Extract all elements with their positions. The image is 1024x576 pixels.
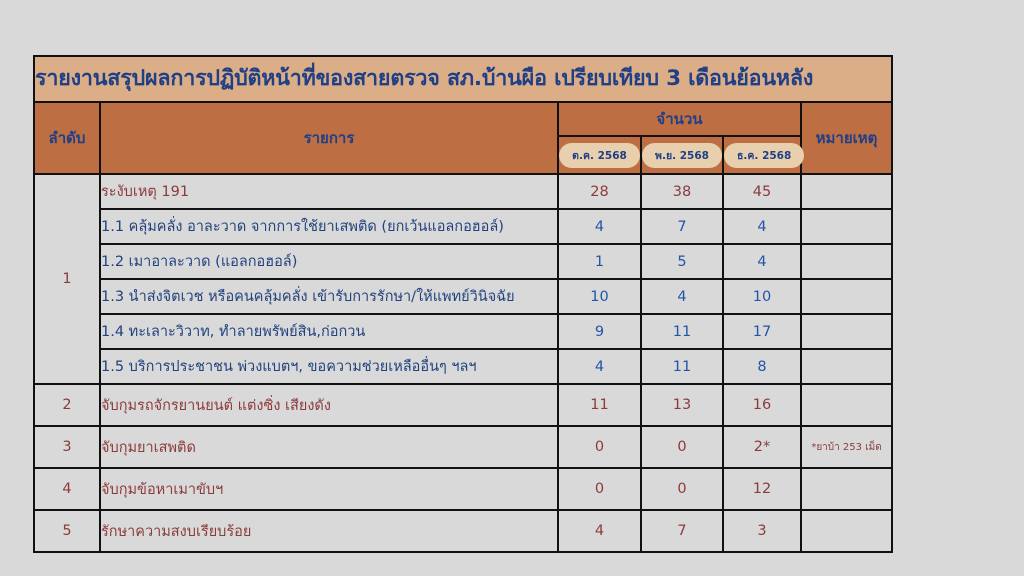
row-value-oct: 4 xyxy=(558,510,641,552)
row-value-dec: 17 xyxy=(723,314,801,349)
row-number: 3 xyxy=(34,426,100,468)
row-value-dec: 10 xyxy=(723,279,801,314)
table-row: 1.3 นำส่งจิตเวช หรือคนคลุ้มคลั่ง เข้ารับ… xyxy=(34,279,892,314)
row-note xyxy=(801,349,892,384)
header-note: หมายเหตุ xyxy=(801,102,892,174)
row-item: 1.2 เมาอาละวาด (แอลกอฮอล์) xyxy=(100,244,558,279)
row-value-nov: 0 xyxy=(641,426,723,468)
table-row: 5 รักษาความสงบเรียบร้อย 4 7 3 xyxy=(34,510,892,552)
row-number: 5 xyxy=(34,510,100,552)
row-note xyxy=(801,244,892,279)
header-month-2: พ.ย. 2568 xyxy=(641,136,723,174)
row-value-oct: 0 xyxy=(558,468,641,510)
header-no: ลำดับ xyxy=(34,102,100,174)
header-month-1: ต.ค. 2568 xyxy=(558,136,641,174)
row-item: ระงับเหตุ 191 xyxy=(100,174,558,209)
row-value-dec: 4 xyxy=(723,244,801,279)
row-value-oct: 4 xyxy=(558,349,641,384)
row-number: 1 xyxy=(34,174,100,384)
page-title: รายงานสรุปผลการปฏิบัติหน้าที่ของสายตรวจ … xyxy=(35,68,891,90)
row-value-oct: 4 xyxy=(558,209,641,244)
header-month-3: ธ.ค. 2568 xyxy=(723,136,801,174)
row-item: 1.4 ทะเลาะวิวาท, ทำลายพรัพย์สิน,ก่อกวน xyxy=(100,314,558,349)
row-item: จับกุมยาเสพติด xyxy=(100,426,558,468)
row-note xyxy=(801,314,892,349)
patrol-summary-table: รายงานสรุปผลการปฏิบัติหน้าที่ของสายตรวจ … xyxy=(33,55,893,553)
row-note xyxy=(801,279,892,314)
header-count-group: จำนวน xyxy=(558,102,801,136)
row-value-nov: 11 xyxy=(641,349,723,384)
row-value-oct: 1 xyxy=(558,244,641,279)
row-number: 4 xyxy=(34,468,100,510)
row-item: จับกุมข้อหาเมาขับฯ xyxy=(100,468,558,510)
row-note xyxy=(801,174,892,209)
row-value-nov: 5 xyxy=(641,244,723,279)
month-pill-nov: พ.ย. 2568 xyxy=(642,143,722,168)
row-value-dec: 4 xyxy=(723,209,801,244)
header-item: รายการ xyxy=(100,102,558,174)
month-pill-dec: ธ.ค. 2568 xyxy=(724,143,804,168)
row-value-nov: 38 xyxy=(641,174,723,209)
title-row: รายงานสรุปผลการปฏิบัติหน้าที่ของสายตรวจ … xyxy=(34,56,892,102)
row-number: 2 xyxy=(34,384,100,426)
row-value-nov: 0 xyxy=(641,468,723,510)
row-value-nov: 4 xyxy=(641,279,723,314)
table-row: 1.1 คลุ้มคลั่ง อาละวาด จากการใช้ยาเสพติด… xyxy=(34,209,892,244)
row-value-dec: 3 xyxy=(723,510,801,552)
row-value-nov: 13 xyxy=(641,384,723,426)
row-value-oct: 11 xyxy=(558,384,641,426)
row-item: จับกุมรถจักรยานยนต์ แต่งซิ่ง เสียงดัง xyxy=(100,384,558,426)
table-row: 1 ระงับเหตุ 191 28 38 45 xyxy=(34,174,892,209)
row-note xyxy=(801,468,892,510)
table-row: 1.4 ทะเลาะวิวาท, ทำลายพรัพย์สิน,ก่อกวน 9… xyxy=(34,314,892,349)
table-row: 2 จับกุมรถจักรยานยนต์ แต่งซิ่ง เสียงดัง … xyxy=(34,384,892,426)
row-value-nov: 11 xyxy=(641,314,723,349)
row-value-oct: 28 xyxy=(558,174,641,209)
row-value-dec: 45 xyxy=(723,174,801,209)
row-value-dec: 12 xyxy=(723,468,801,510)
row-item: 1.1 คลุ้มคลั่ง อาละวาด จากการใช้ยาเสพติด… xyxy=(100,209,558,244)
report-title-cell: รายงานสรุปผลการปฏิบัติหน้าที่ของสายตรวจ … xyxy=(34,56,892,102)
row-item: 1.5 บริการประชาชน พ่วงแบตฯ, ขอความช่วยเห… xyxy=(100,349,558,384)
row-value-dec: 8 xyxy=(723,349,801,384)
header-row-top: ลำดับ รายการ จำนวน หมายเหตุ xyxy=(34,102,892,136)
table-row: 4 จับกุมข้อหาเมาขับฯ 0 0 12 xyxy=(34,468,892,510)
row-value-dec: 2* xyxy=(723,426,801,468)
row-note: *ยาบ้า 253 เม็ด xyxy=(801,426,892,468)
row-value-nov: 7 xyxy=(641,209,723,244)
row-value-nov: 7 xyxy=(641,510,723,552)
month-pill-oct: ต.ค. 2568 xyxy=(559,143,640,168)
row-item: รักษาความสงบเรียบร้อย xyxy=(100,510,558,552)
row-value-oct: 10 xyxy=(558,279,641,314)
row-note xyxy=(801,510,892,552)
table-row: 1.2 เมาอาละวาด (แอลกอฮอล์) 1 5 4 xyxy=(34,244,892,279)
row-note xyxy=(801,209,892,244)
table-row: 3 จับกุมยาเสพติด 0 0 2* *ยาบ้า 253 เม็ด xyxy=(34,426,892,468)
row-value-oct: 0 xyxy=(558,426,641,468)
row-note xyxy=(801,384,892,426)
row-value-oct: 9 xyxy=(558,314,641,349)
table-row: 1.5 บริการประชาชน พ่วงแบตฯ, ขอความช่วยเห… xyxy=(34,349,892,384)
row-item: 1.3 นำส่งจิตเวช หรือคนคลุ้มคลั่ง เข้ารับ… xyxy=(100,279,558,314)
row-value-dec: 16 xyxy=(723,384,801,426)
